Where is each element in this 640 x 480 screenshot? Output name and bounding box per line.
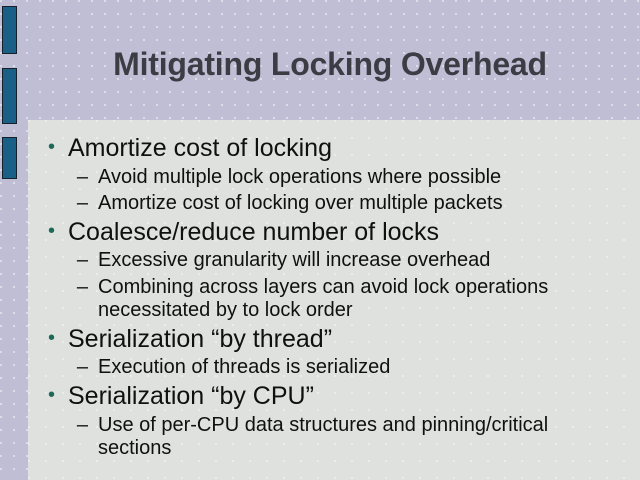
edge-decoration-bar-1 [2, 6, 17, 54]
bullet-text: Coalesce/reduce number of locks [68, 218, 632, 247]
bullet-text: Excessive granularity will increase over… [98, 249, 598, 273]
bullet-text: Serialization “by CPU” [68, 382, 632, 411]
bullet-item-level2: –Amortize cost of locking over multiple … [42, 192, 632, 216]
bullet-item-level2: –Use of per-CPU data structures and pinn… [42, 414, 632, 461]
bullet-dash-icon: – [42, 276, 98, 300]
bullet-text: Amortize cost of locking [68, 134, 632, 163]
presentation-slide: Mitigating Locking Overhead •Amortize co… [0, 0, 640, 480]
bullet-text: Combining across layers can avoid lock o… [98, 276, 598, 323]
bullet-dash-icon: – [42, 414, 98, 438]
bullet-text: Use of per-CPU data structures and pinni… [98, 414, 598, 461]
bullet-text: Execution of threads is serialized [98, 356, 598, 380]
bullet-list: •Amortize cost of locking–Avoid multiple… [42, 132, 632, 461]
bullet-item-level1: •Serialization “by CPU” [42, 382, 632, 411]
bullet-item-level1: •Amortize cost of locking [42, 134, 632, 163]
bullet-item-level2: –Avoid multiple lock operations where po… [42, 166, 632, 190]
edge-decoration-bar-2 [2, 68, 17, 124]
bullet-text: Serialization “by thread” [68, 325, 632, 354]
bullet-dot-icon: • [42, 134, 68, 161]
slide-title: Mitigating Locking Overhead [28, 46, 632, 83]
bullet-dash-icon: – [42, 192, 98, 216]
bullet-item-level2: –Combining across layers can avoid lock … [42, 276, 632, 323]
bullet-item-level2: –Execution of threads is serialized [42, 356, 632, 380]
bullet-item-level1: •Coalesce/reduce number of locks [42, 218, 632, 247]
bullet-item-level2: –Excessive granularity will increase ove… [42, 249, 632, 273]
bullet-dot-icon: • [42, 382, 68, 409]
slide-content-panel: •Amortize cost of locking–Avoid multiple… [28, 120, 640, 480]
bullet-dot-icon: • [42, 218, 68, 245]
bullet-dash-icon: – [42, 356, 98, 380]
bullet-dash-icon: – [42, 166, 98, 190]
edge-decoration-bar-3 [2, 137, 17, 179]
bullet-text: Amortize cost of locking over multiple p… [98, 192, 598, 216]
bullet-dot-icon: • [42, 325, 68, 352]
bullet-item-level1: •Serialization “by thread” [42, 325, 632, 354]
bullet-dash-icon: – [42, 249, 98, 273]
bullet-text: Avoid multiple lock operations where pos… [98, 166, 598, 190]
